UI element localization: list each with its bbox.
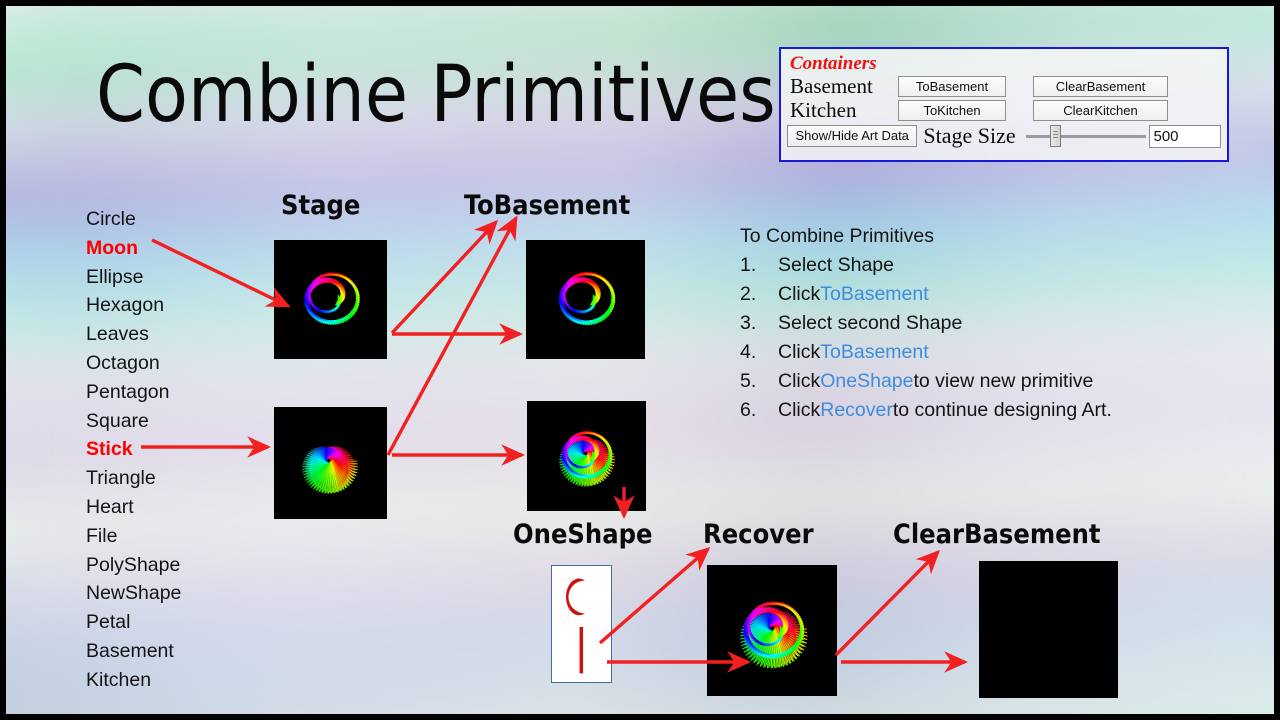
container-row-basement: Basement ToBasement ClearBasement (787, 74, 1221, 98)
stage-size-value-field[interactable]: 500 (1149, 125, 1222, 148)
stage-size-row: Show/Hide Art Data Stage Size 500 (787, 123, 1221, 149)
basement-art-moon[interactable] (526, 240, 645, 359)
oneshape-shapes (552, 566, 611, 682)
containers-panel: Containers Basement ToBasement ClearBase… (779, 47, 1229, 162)
shape-list-item-basement[interactable]: Basement (86, 637, 266, 666)
instructions-title: To Combine Primitives (740, 222, 1170, 251)
shape-list-item-hexagon[interactable]: Hexagon (86, 291, 266, 320)
instruction-step-6: 6. Click Recover to continue designing A… (740, 396, 1170, 425)
step-number: 1. (740, 251, 778, 280)
instruction-step-5: 5. Click OneShape to view new primitive (740, 367, 1170, 396)
heading-oneshape: OneShape (513, 519, 652, 550)
moon-icon (566, 579, 585, 616)
shape-list-item-circle[interactable]: Circle (86, 205, 266, 234)
stage-size-label: Stage Size (923, 123, 1015, 149)
heading-recover: Recover (703, 519, 814, 550)
shape-list-item-ellipse[interactable]: Ellipse (86, 263, 266, 292)
heading-clearbasement: ClearBasement (893, 519, 1101, 550)
container-label-kitchen: Kitchen (790, 99, 898, 121)
app-canvas: Combine Primitives Circle Moon Ellipse H… (0, 0, 1280, 720)
container-label-basement: Basement (790, 75, 898, 97)
combined-render (707, 565, 837, 696)
moon-spiral-render (526, 240, 645, 359)
containers-panel-title: Containers (790, 53, 1221, 74)
recover-art-combined[interactable] (707, 565, 837, 696)
heading-stage: Stage (281, 190, 360, 221)
step-text: Select Shape (778, 251, 894, 280)
shape-list-item-file[interactable]: File (86, 522, 266, 551)
stage-size-slider[interactable] (1026, 127, 1137, 145)
basement-art-combined[interactable] (527, 401, 646, 511)
shape-list-item-octagon[interactable]: Octagon (86, 349, 266, 378)
empty-render (979, 561, 1118, 698)
step-text-tail: to continue designing Art. (893, 396, 1112, 425)
clearbasement-art[interactable] (979, 561, 1118, 698)
show-hide-art-data-button[interactable]: Show/Hide Art Data (787, 125, 917, 147)
step-keyword-tobasement[interactable]: ToBasement (820, 338, 928, 367)
clear-basement-button[interactable]: ClearBasement (1033, 76, 1168, 97)
step-number: 5. (740, 367, 778, 396)
shape-list-item-pentagon[interactable]: Pentagon (86, 378, 266, 407)
step-number: 4. (740, 338, 778, 367)
shape-list-item-kitchen[interactable]: Kitchen (86, 666, 266, 695)
step-keyword-tobasement[interactable]: ToBasement (820, 280, 928, 309)
instructions-panel: To Combine Primitives 1. Select Shape 2.… (740, 222, 1170, 425)
step-text: Click (778, 367, 820, 396)
shape-list-item-square[interactable]: Square (86, 407, 266, 436)
step-number: 3. (740, 309, 778, 338)
step-number: 2. (740, 280, 778, 309)
shape-list-item-triangle[interactable]: Triangle (86, 464, 266, 493)
stick-burst-render (274, 407, 387, 519)
step-text: Click (778, 338, 820, 367)
shape-list-item-petal[interactable]: Petal (86, 608, 266, 637)
to-basement-button[interactable]: ToBasement (898, 76, 1006, 97)
combined-render (527, 401, 646, 511)
step-number: 6. (740, 396, 778, 425)
slider-thumb[interactable] (1050, 125, 1061, 147)
step-text: Click (778, 280, 820, 309)
instruction-step-4: 4. Click ToBasement (740, 338, 1170, 367)
shape-list-item-heart[interactable]: Heart (86, 493, 266, 522)
oneshape-preview[interactable] (551, 565, 612, 683)
shape-list-item-moon[interactable]: Moon (86, 234, 266, 263)
page-title: Combine Primitives (96, 56, 776, 134)
container-row-kitchen: Kitchen ToKitchen ClearKitchen (787, 98, 1221, 122)
clear-kitchen-button[interactable]: ClearKitchen (1033, 100, 1168, 121)
step-text: Select second Shape (778, 309, 962, 338)
stage-art-stick[interactable] (274, 407, 387, 519)
stage-art-moon[interactable] (274, 240, 387, 359)
to-kitchen-button[interactable]: ToKitchen (898, 100, 1006, 121)
shape-list-item-stick[interactable]: Stick (86, 435, 266, 464)
stick-icon (580, 627, 583, 673)
shape-list-item-polyshape[interactable]: PolyShape (86, 551, 266, 580)
primitive-shape-list[interactable]: Circle Moon Ellipse Hexagon Leaves Octag… (86, 205, 266, 695)
step-keyword-recover[interactable]: Recover (820, 396, 893, 425)
shape-list-item-newshape[interactable]: NewShape (86, 579, 266, 608)
shape-list-item-leaves[interactable]: Leaves (86, 320, 266, 349)
instruction-step-3: 3. Select second Shape (740, 309, 1170, 338)
step-text: Click (778, 396, 820, 425)
moon-spiral-render (274, 240, 387, 359)
heading-tobasement: ToBasement (464, 190, 630, 221)
step-keyword-oneshape[interactable]: OneShape (820, 367, 913, 396)
step-text-tail: to view new primitive (914, 367, 1094, 396)
instruction-step-2: 2. Click ToBasement (740, 280, 1170, 309)
instruction-step-1: 1. Select Shape (740, 251, 1170, 280)
slider-track[interactable] (1026, 135, 1146, 138)
